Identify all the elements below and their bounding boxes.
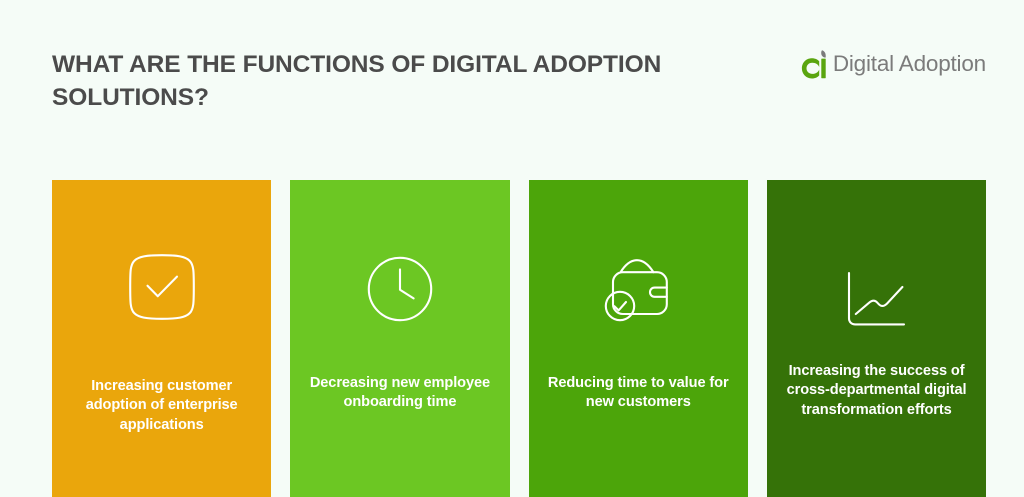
- wallet-check-icon: [529, 255, 748, 327]
- function-card-3[interactable]: Reducing time to value for new customers: [529, 180, 748, 497]
- header: What are the functions of digital adopti…: [0, 0, 1024, 180]
- brand-logo[interactable]: Digital Adoption: [801, 49, 986, 79]
- functions-card-row: Increasing customer adoption of enterpri…: [52, 180, 986, 497]
- function-card-3-label: Reducing time to value for new customers: [543, 374, 734, 413]
- function-card-1-label: Increasing customer adoption of enterpri…: [66, 377, 257, 435]
- digital-adoption-a-logomark-icon: [801, 49, 830, 79]
- page-title: What are the functions of digital adopti…: [52, 48, 712, 114]
- function-card-1[interactable]: Increasing customer adoption of enterpri…: [52, 180, 271, 497]
- function-card-2[interactable]: Decreasing new employee onboarding time: [290, 180, 509, 497]
- check-squircle-icon: [52, 251, 271, 323]
- clock-icon: [290, 253, 509, 325]
- function-card-4[interactable]: Increasing the success of cross-departme…: [767, 180, 986, 497]
- function-card-4-label: Increasing the success of cross-departme…: [781, 362, 972, 420]
- function-card-2-label: Decreasing new employee onboarding time: [304, 374, 495, 413]
- logo-wordmark: Digital Adoption: [833, 52, 986, 76]
- line-chart-icon: [767, 264, 986, 336]
